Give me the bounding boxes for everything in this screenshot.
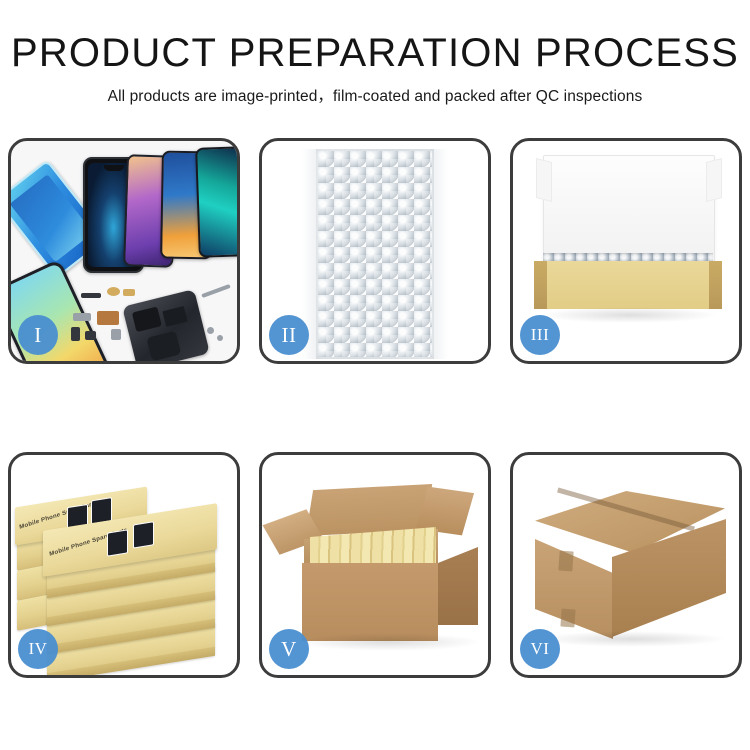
step-badge-6: VI [520, 629, 560, 669]
part-camera-module [85, 331, 96, 340]
part-gold-bracket [123, 289, 135, 296]
step-badge-4: IV [18, 629, 58, 669]
part-copper-grid [97, 311, 119, 325]
part-connector-a [73, 313, 91, 321]
box-print-spec-lines-upper [109, 491, 143, 516]
sealed-carton-shadow-ellipse [537, 631, 727, 647]
product-preparation-infographic: PRODUCT PREPARATION PROCESS All products… [0, 0, 750, 750]
bubble-pattern [318, 151, 432, 357]
steps-grid: I II III [8, 138, 742, 678]
step-panel-sealed-carton[interactable]: VI [510, 452, 742, 678]
part-ic-chip [71, 327, 80, 341]
page-title: PRODUCT PREPARATION PROCESS [0, 32, 750, 74]
box-print-screen-d [133, 521, 154, 548]
box-print-spec-lines-main [165, 510, 211, 543]
carton-flap-back [306, 484, 433, 536]
step-panel-products-and-spare-parts[interactable]: I [8, 138, 240, 364]
tape-strip-lower [560, 609, 575, 628]
box-shadow-ellipse [539, 307, 719, 323]
step-badge-2: II [269, 315, 309, 355]
inner-box-lid [543, 155, 715, 267]
part-sim-tray [111, 329, 121, 340]
step-badge-5: V [269, 629, 309, 669]
part-tweezers [201, 284, 231, 298]
carton-side-face [438, 547, 478, 625]
inner-box-tray [535, 261, 721, 309]
step-panel-bubble-wrap[interactable]: II [259, 138, 491, 364]
part-screw-a [207, 327, 214, 334]
box-print-screen-c [107, 529, 128, 556]
tape-strip-upper [558, 551, 573, 572]
part-speaker-gold [107, 287, 120, 296]
header: PRODUCT PREPARATION PROCESS All products… [0, 0, 750, 106]
part-screw-b [217, 335, 223, 341]
bubble-wrap-sheet [316, 149, 434, 359]
step-badge-3: III [520, 315, 560, 355]
phone-screen-teal [195, 146, 237, 258]
phone-chassis [122, 289, 210, 361]
carton-shadow-ellipse [296, 633, 482, 651]
part-flex-strip [81, 293, 101, 298]
step-panel-boxes-stacked[interactable]: Mobile Phone Spare Parts Mobile Phone Sp… [8, 452, 240, 678]
step-panel-carton-filling[interactable]: V [259, 452, 491, 678]
step-panel-inner-box-packing[interactable]: III [510, 138, 742, 364]
carton-front-face [302, 563, 438, 641]
page-subtitle: All products are image-printed，film-coat… [0, 84, 750, 106]
step-badge-1: I [18, 315, 58, 355]
